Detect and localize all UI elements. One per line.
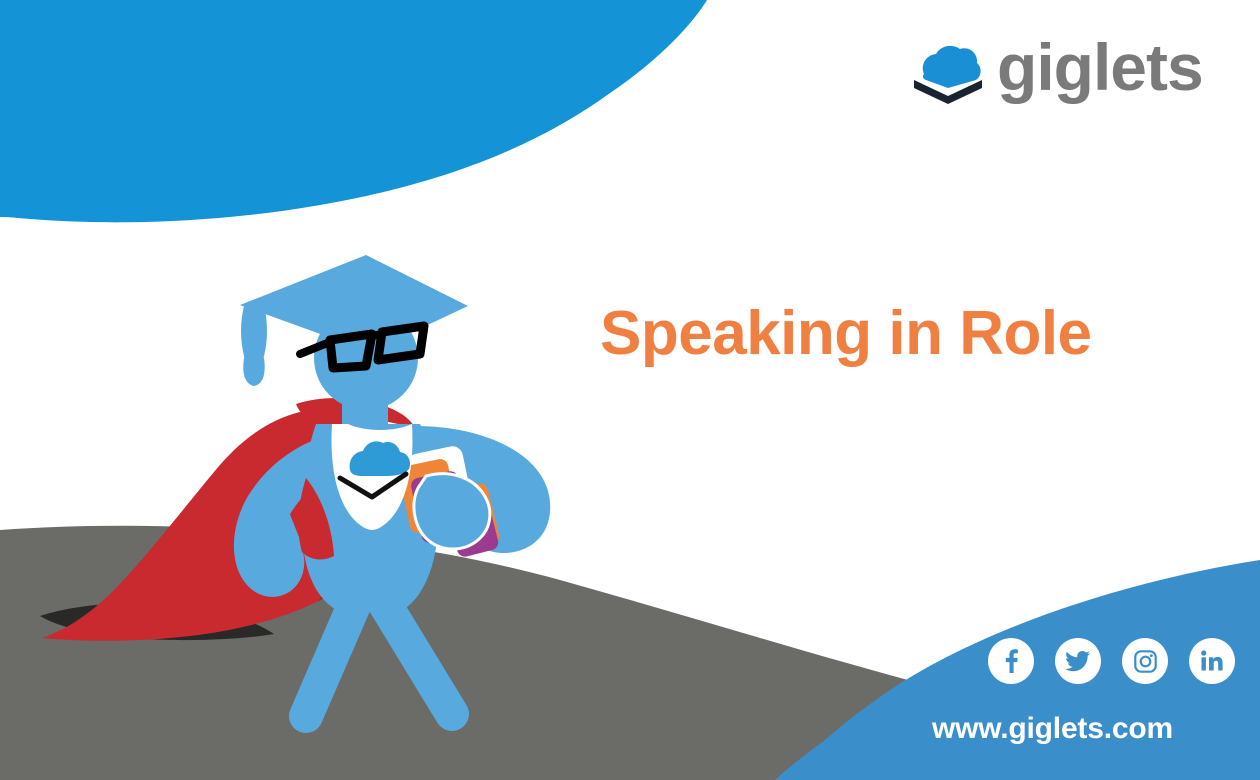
social-link-instagram[interactable]: Instagram <box>1122 638 1168 684</box>
linkedin-icon <box>1200 649 1224 673</box>
right-leg <box>380 596 452 714</box>
website-url[interactable]: www.giglets.com <box>932 712 1173 746</box>
left-leg <box>306 596 358 716</box>
social-link-linkedin[interactable]: LinkedIn <box>1189 638 1235 684</box>
facebook-icon <box>999 649 1023 673</box>
social-link-facebook[interactable]: Facebook <box>988 638 1034 684</box>
instagram-icon <box>1133 649 1158 674</box>
social-link-twitter[interactable]: Twitter <box>1055 638 1101 684</box>
promo-slide: giglets Speaking in Role Facebook Twitte… <box>0 0 1260 780</box>
logo-cloud <box>923 46 981 88</box>
cloud-book-logo-icon <box>912 44 984 104</box>
graduation-cap-tassel-tip <box>243 358 264 386</box>
page-title: Speaking in Role <box>600 300 1200 368</box>
social-links: Facebook Twitter Instagram LinkedIn <box>988 638 1235 684</box>
brand-wordmark: giglets <box>997 34 1203 100</box>
twitter-icon <box>1065 648 1091 674</box>
